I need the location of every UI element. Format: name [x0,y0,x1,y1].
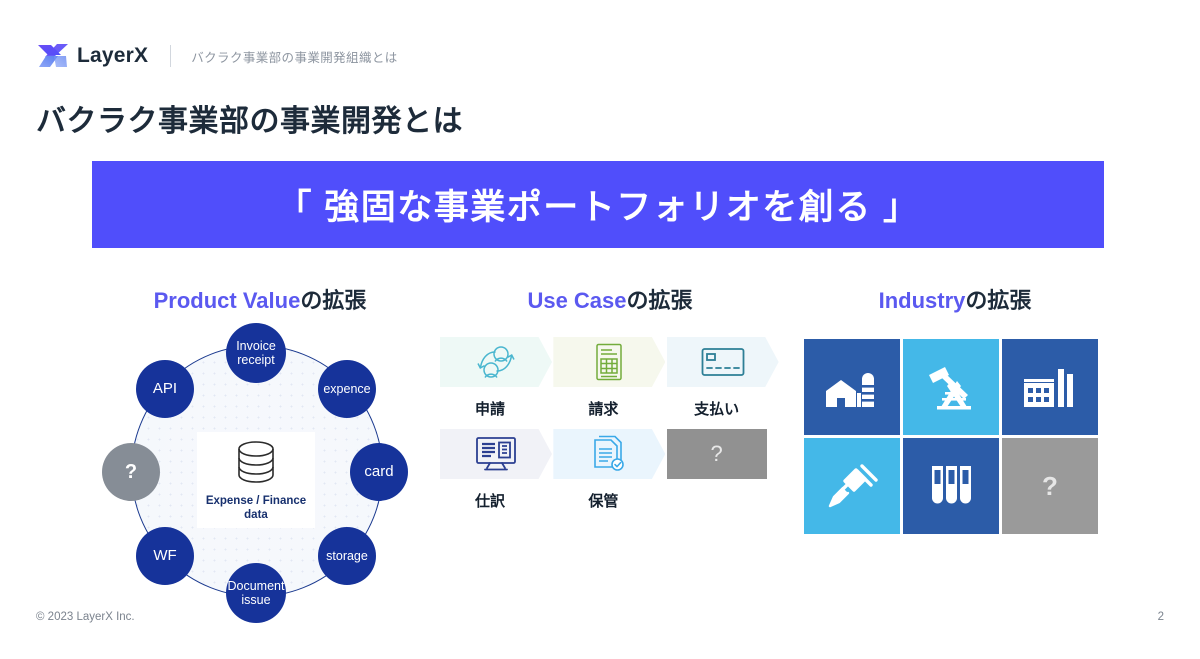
oil-pumpjack-icon [923,363,979,411]
use-case-step-shiwake[interactable]: 仕訳 [440,429,552,511]
node-label: API [153,380,177,397]
page-title: バクラク事業部の事業開発とは [36,96,463,140]
column-heading-en: Product Value [154,288,301,313]
circle-node-wf[interactable]: WF [136,527,194,585]
node-label-line2: receipt [237,353,275,367]
center-label-line2: data [244,509,268,521]
footer-page-number: 2 [1158,611,1164,623]
industry-tile-factory[interactable] [1002,339,1098,435]
step-chevron [440,429,552,479]
people-approval-icon [474,345,518,379]
industry-tile-placeholder[interactable]: ? [1002,438,1098,534]
step-label: 支払い [667,398,767,419]
column-industry: Industryの拡張 [790,283,1120,534]
step-label: 仕訳 [440,490,540,511]
node-label-line1: Invoice [236,339,276,353]
invoice-document-icon [594,343,624,381]
column-heading-industry: Industryの拡張 [790,283,1120,315]
use-case-step-seikyuu[interactable]: 請求 [553,337,665,419]
step-chevron [667,337,779,387]
industry-tile-medical[interactable] [804,438,900,534]
monitor-ledger-icon [474,436,518,472]
farm-silo-icon [824,363,880,411]
question-mark-icon: ? [667,429,767,479]
column-heading-jp: の拡張 [965,288,1031,313]
use-case-step-shiharai[interactable]: 支払い [667,337,779,419]
node-label: ? [125,461,137,484]
industry-tile-farm[interactable] [804,339,900,435]
industry-tile-grid: ? [804,339,1120,534]
column-heading-en: Use Case [527,288,626,313]
node-label-line1: Document [228,579,285,593]
step-label: 保管 [553,490,653,511]
column-product-value: Product Valueの拡張 Expense / Finance data [80,283,440,627]
circle-node-expence[interactable]: expence [318,360,376,418]
document-check-icon [592,435,626,473]
step-chevron [553,337,665,387]
industry-tile-oil[interactable] [903,339,999,435]
circle-center-card: Expense / Finance data [197,432,315,528]
center-label-line1: Expense / Finance [206,495,306,507]
headline-banner-text: 「 強固な事業ポートフォリオを創る 」 [277,179,920,230]
circle-node-document-issue[interactable]: Documentissue [226,563,286,623]
placeholder-glyph: ? [711,441,723,467]
use-case-step-shinsei[interactable]: 申請 [440,337,552,419]
logo-text: LayerX [77,44,148,68]
syringe-icon [824,462,880,510]
layerx-butterfly-mark-icon [36,43,70,69]
column-heading-jp: の拡張 [627,288,693,313]
column-use-case: Use Caseの拡張 申請 [440,283,780,511]
use-case-step-placeholder[interactable]: ? [667,429,779,511]
test-tubes-icon [923,462,979,510]
column-heading-jp: の拡張 [300,288,366,313]
header-divider [170,45,171,67]
step-label: 請求 [553,398,653,419]
database-cylinder-icon [228,438,284,490]
footer-copyright: © 2023 LayerX Inc. [36,611,135,623]
node-label: expence [323,382,370,396]
node-label: WF [153,547,176,564]
factory-icon [1022,363,1078,411]
circle-node-card[interactable]: card [350,443,408,501]
step-chevron [553,429,665,479]
node-label-line2: issue [241,593,270,607]
headline-banner: 「 強固な事業ポートフォリオを創る 」 [92,161,1104,248]
circle-center-label: Expense / Finance data [206,494,306,523]
question-mark-icon: ? [1042,471,1058,502]
column-heading-product-value: Product Valueの拡張 [80,283,440,315]
circle-node-invoice-receipt[interactable]: Invoicereceipt [226,323,286,383]
node-label: card [364,463,393,480]
circle-node-storage[interactable]: storage [318,527,376,585]
node-label: storage [326,549,368,563]
use-case-step-grid: 申請 請求 [440,337,780,511]
header-subtitle: バクラク事業部の事業開発組織とは [191,47,397,66]
product-value-circle-diagram: Expense / Finance data Invoicereceipt ex… [95,327,425,627]
page-header: LayerX バクラク事業部の事業開発組織とは [36,40,398,72]
step-label: 申請 [440,398,540,419]
circle-node-api[interactable]: API [136,360,194,418]
industry-tile-lab[interactable] [903,438,999,534]
column-heading-use-case: Use Caseの拡張 [440,283,780,315]
column-heading-en: Industry [879,288,966,313]
step-chevron [440,337,552,387]
circle-node-placeholder-question[interactable]: ? [102,443,160,501]
use-case-step-hokan[interactable]: 保管 [553,429,665,511]
payment-card-icon [701,347,745,377]
